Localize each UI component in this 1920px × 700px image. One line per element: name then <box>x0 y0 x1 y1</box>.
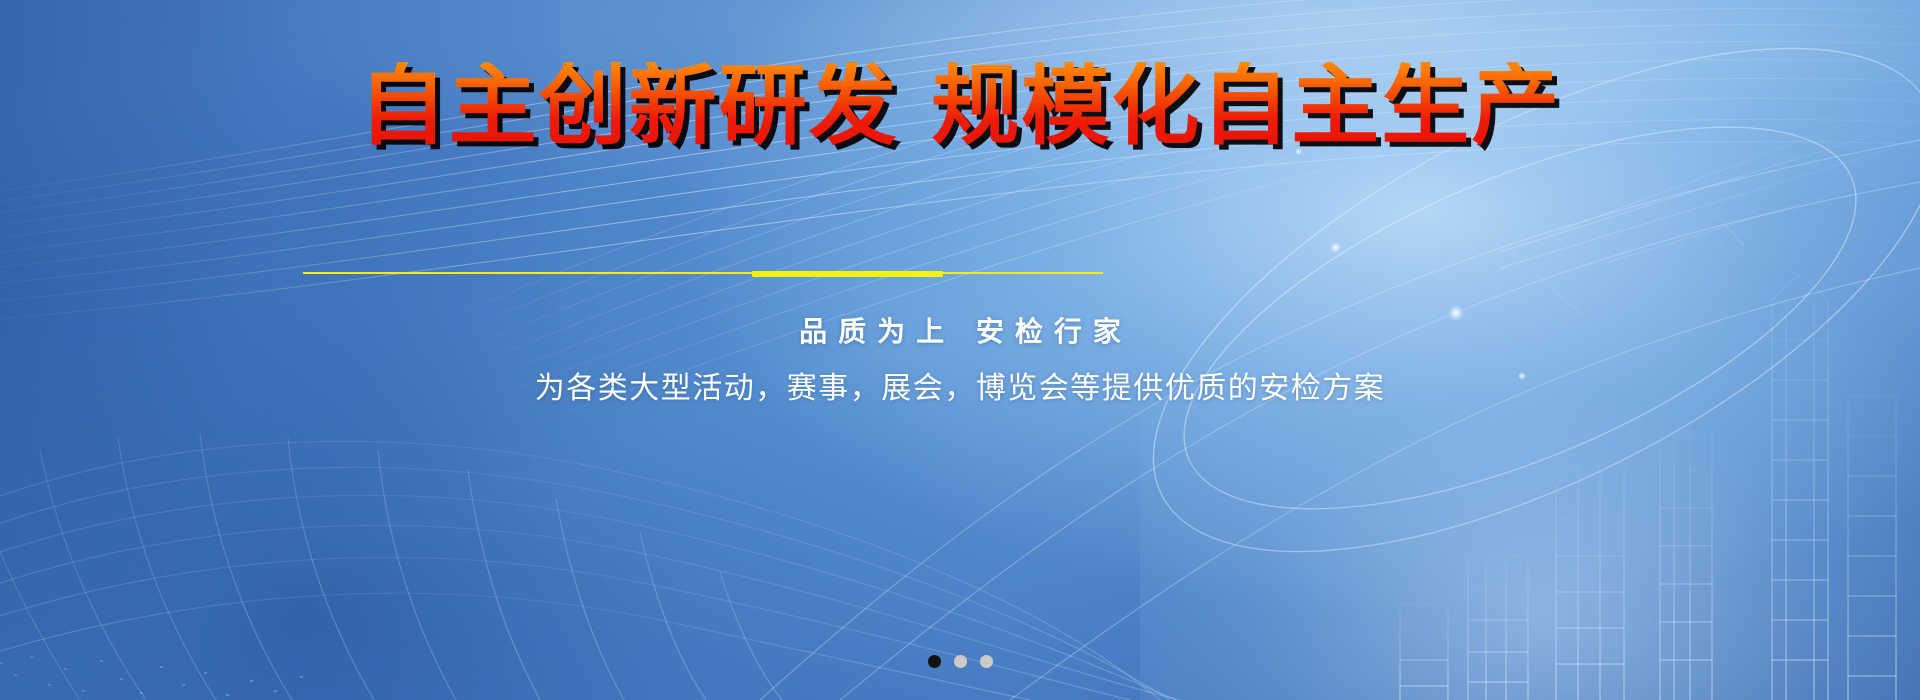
background-sky-glow <box>0 0 1920 340</box>
divider-thick-line <box>752 271 943 277</box>
carousel-indicators <box>0 655 1920 668</box>
banner-subtitle-secondary: 为各类大型活动，赛事，展会，博览会等提供优质的安检方案 <box>0 363 1920 407</box>
carousel-dot-3[interactable] <box>980 655 993 668</box>
sparkle-icon <box>1330 242 1341 253</box>
banner-headline: 自主创新研发 规模化自主生产 <box>0 62 1920 150</box>
hero-banner: 自主创新研发 规模化自主生产 品质为上 安检行家 为各类大型活动，赛事，展会，博… <box>0 0 1920 700</box>
background-glow-bottom-right <box>1140 240 1920 700</box>
carousel-dot-2[interactable] <box>954 655 967 668</box>
carousel-dot-1[interactable] <box>928 655 941 668</box>
headline-divider <box>303 271 1103 274</box>
divider-thin-line <box>303 272 1103 274</box>
banner-subtitle-primary: 品质为上 安检行家 <box>0 310 1920 350</box>
